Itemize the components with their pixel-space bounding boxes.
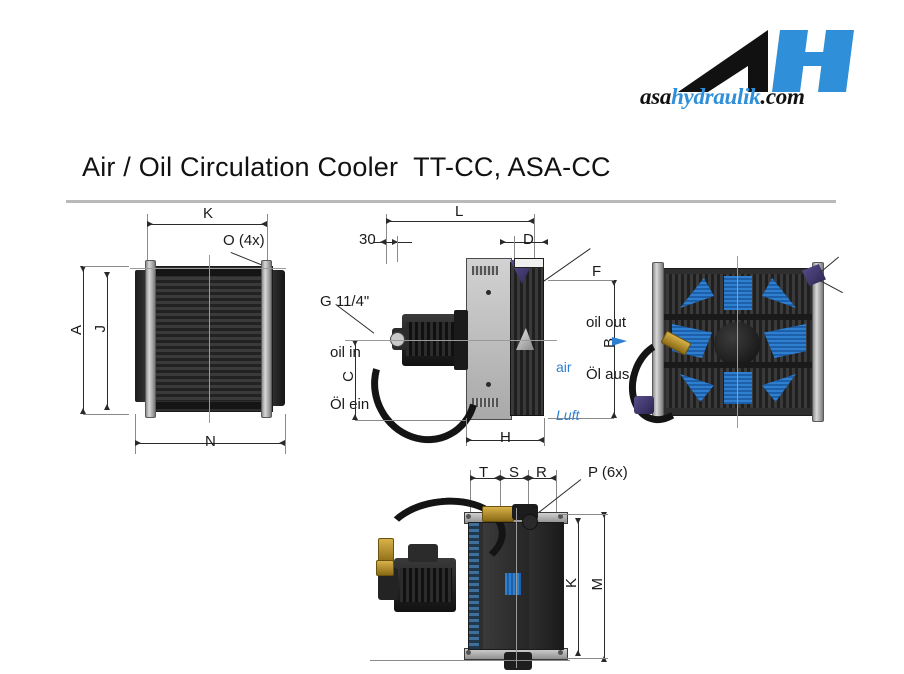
callout-oil-in-line1: G 11/4"	[320, 293, 369, 310]
arrow	[261, 221, 267, 227]
ext-line	[285, 414, 286, 454]
arrow	[500, 475, 506, 481]
arrow	[466, 437, 472, 443]
centerline-vertical	[737, 256, 738, 428]
arrow	[528, 218, 534, 224]
arrow	[601, 512, 607, 518]
asa-hydraulik-logo: asahydraulik.com	[640, 22, 880, 122]
callout-label-o: O (4x)	[223, 232, 265, 249]
bottom-fitting	[504, 652, 532, 670]
arrow	[500, 239, 506, 245]
ext-line	[556, 470, 557, 514]
dim-label-l: L	[455, 203, 463, 220]
ext-line	[370, 660, 570, 661]
mounting-rail-left	[145, 260, 156, 418]
fan-blade	[724, 276, 752, 310]
bolt	[486, 290, 491, 295]
dim-label-t: T	[479, 464, 488, 481]
callout-oil-out-line1: F	[592, 263, 629, 280]
ext-line	[534, 214, 535, 262]
airflow-label: air Luft	[556, 327, 579, 456]
arrow	[104, 272, 110, 278]
ext-line	[548, 280, 614, 281]
arrow	[386, 218, 392, 224]
airflow-label-luft: Luft	[556, 407, 579, 423]
dim-label-j: J	[92, 325, 109, 333]
ext-line	[397, 236, 398, 262]
hose-end-fitting	[634, 396, 654, 414]
bolt	[466, 650, 471, 655]
arrow	[575, 518, 581, 524]
cooler-fins	[156, 277, 266, 401]
dim-label-30: 30	[359, 231, 376, 248]
centerline-horizontal	[345, 340, 557, 341]
callout-label-p: P (6x)	[588, 464, 628, 481]
callout-oil-out: F oil out Öl aus	[592, 228, 629, 418]
arrow	[104, 404, 110, 410]
frame-top	[154, 269, 268, 276]
dim-label-r: R	[536, 464, 547, 481]
dim-line-k	[147, 224, 267, 225]
rear-view-body	[652, 262, 824, 420]
dim-label-d: D	[523, 231, 534, 248]
arrow	[575, 650, 581, 656]
centerline-horizontal	[130, 268, 286, 269]
dim-line-j	[107, 272, 108, 410]
arrow	[550, 475, 556, 481]
callout-oil-in-line2: oil in	[320, 344, 369, 361]
body-panel	[529, 523, 563, 649]
grille-crossbar	[662, 314, 814, 320]
dim-label-h: H	[500, 429, 511, 446]
bolt	[486, 382, 491, 387]
title-divider	[66, 200, 836, 203]
dim-line-a	[83, 266, 84, 414]
arrow	[135, 440, 141, 446]
arrow	[538, 437, 544, 443]
centerline-vertical	[209, 255, 210, 423]
dim-label-n: N	[205, 433, 216, 450]
ext-line	[560, 658, 608, 659]
dim-label-k2: K	[563, 578, 580, 588]
page-title: Air / Oil Circulation Cooler TT-CC, ASA-…	[82, 152, 611, 183]
port-cap	[522, 514, 538, 530]
arrow	[528, 475, 534, 481]
arrow	[279, 440, 285, 446]
mounting-rail-right	[812, 262, 824, 422]
frame-bottom	[154, 402, 268, 409]
port-flange	[514, 258, 544, 268]
callout-oil-out-line2: oil out	[586, 314, 629, 331]
ext-line	[83, 266, 129, 267]
brass-union	[482, 506, 514, 522]
ext-line	[544, 418, 545, 446]
dim-label-s: S	[509, 464, 519, 481]
arrow	[542, 239, 548, 245]
arrow	[470, 475, 476, 481]
fan-blade	[724, 372, 752, 404]
callout-oil-in-line3: Öl ein	[320, 396, 369, 413]
dim-line-b	[614, 280, 615, 418]
cooler-frame	[149, 266, 273, 412]
arrow	[601, 656, 607, 662]
brass-fitting	[376, 560, 394, 576]
ext-line	[560, 514, 608, 515]
callout-oil-out-line3: Öl aus	[586, 366, 629, 383]
airflow-label-air: air	[556, 359, 579, 375]
dim-label-c: C	[340, 371, 357, 382]
bolt	[558, 650, 563, 655]
logo-wordmark: asahydraulik.com	[640, 84, 880, 110]
dim-label-k: K	[203, 205, 213, 222]
mounting-rail-right	[261, 260, 272, 418]
centerline-vertical	[516, 508, 517, 668]
leader-line	[536, 248, 591, 287]
indicator-stripe	[505, 573, 521, 595]
arrow	[380, 239, 386, 245]
airflow-arrow-icon	[586, 332, 628, 348]
dim-label-m: M	[589, 578, 606, 591]
ext-line	[355, 420, 467, 421]
ext-line	[135, 414, 136, 454]
logo-etch	[472, 266, 498, 275]
arrow	[147, 221, 153, 227]
dim-label-a: A	[68, 325, 85, 335]
ext-line	[83, 414, 129, 415]
dim-line-l	[386, 221, 534, 222]
